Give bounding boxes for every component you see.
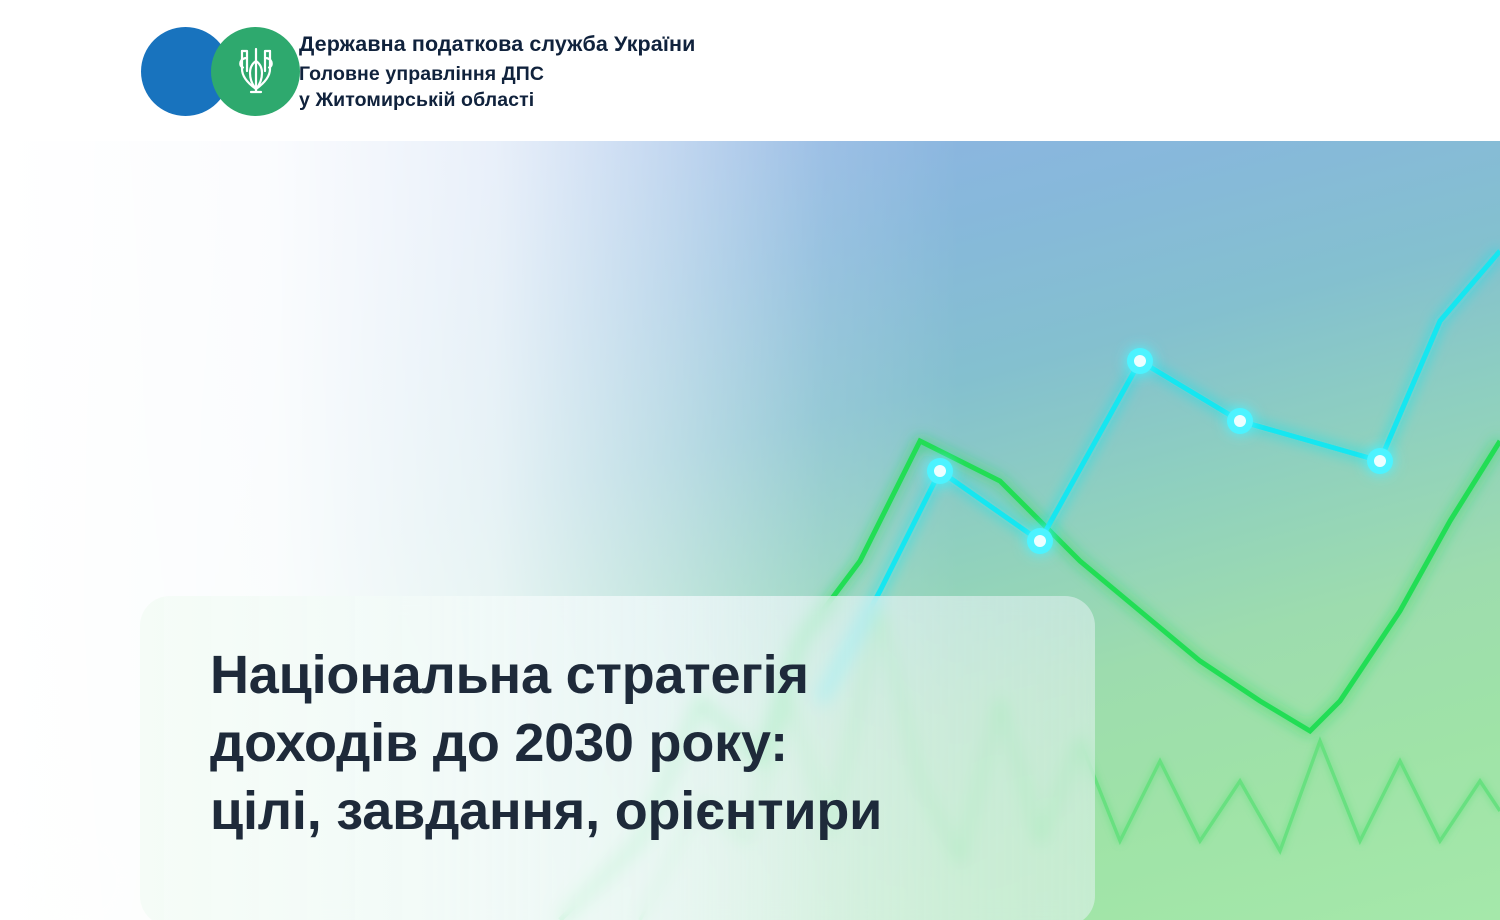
logo-green-circle-icon — [211, 27, 300, 116]
cyan-line-markers — [927, 348, 1393, 554]
page-title-line-1: Національна стратегія — [210, 641, 1070, 709]
promo-banner: Державна податкова служба України Головн… — [0, 0, 1500, 920]
agency-logo[interactable] — [141, 27, 289, 116]
agency-name-block: Державна податкова служба України Головн… — [299, 27, 695, 113]
hero-banner: Національна стратегія доходів до 2030 ро… — [0, 141, 1500, 920]
page-title: Національна стратегія доходів до 2030 ро… — [210, 641, 1070, 845]
title-card: Національна стратегія доходів до 2030 ро… — [140, 596, 1095, 920]
brand-block[interactable]: Державна податкова служба України Головн… — [141, 27, 695, 116]
page-title-line-2: доходів до 2030 року: — [210, 709, 1070, 777]
site-header: Державна податкова служба України Головн… — [0, 0, 1500, 141]
agency-title: Державна податкова служба України — [299, 30, 695, 58]
agency-subtitle-line-2: у Житомирській області — [299, 87, 695, 113]
agency-subtitle-line-1: Головне управління ДПС — [299, 61, 695, 87]
ukraine-trident-icon — [234, 45, 278, 99]
page-title-line-3: цілі, завдання, орієнтири — [210, 777, 1070, 845]
